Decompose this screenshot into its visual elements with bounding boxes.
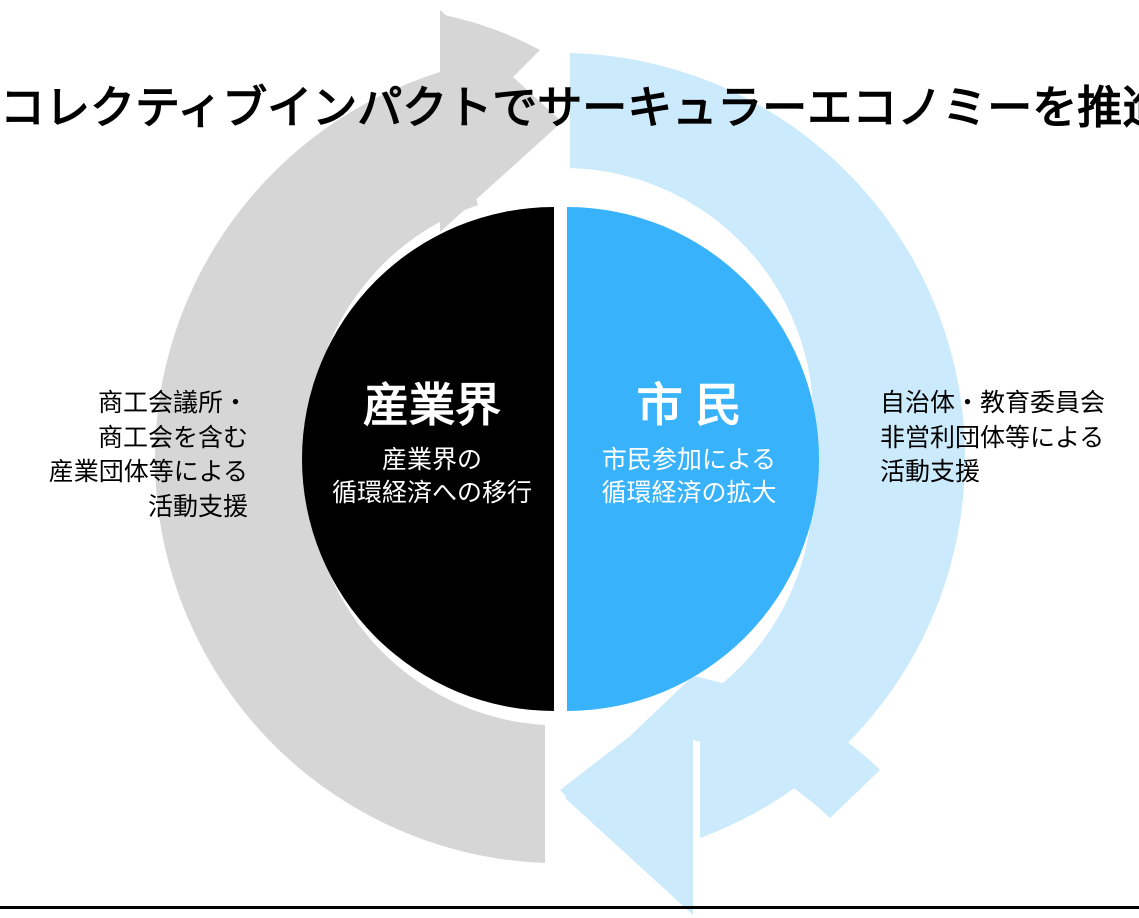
- caption-left-line-3: 産業団体等による: [0, 455, 248, 490]
- industry-heading: 産業界: [313, 378, 551, 432]
- slide-canvas: コレクティブインパクトでサーキュラーエコノミーを推進 商工会議所・ 商工会を含む…: [0, 0, 1139, 918]
- caption-left-line-1: 商工会議所・: [0, 386, 248, 421]
- page-title: コレクティブインパクトでサーキュラーエコノミーを推進: [0, 82, 1139, 134]
- caption-right-line-2: 非営利団体等による: [880, 421, 1139, 456]
- lightblue-arrow-head-fill: [565, 676, 693, 915]
- citizens-subtitle-line-1: 市民参加による: [570, 444, 808, 477]
- bottom-divider: [0, 906, 1139, 909]
- citizens-subtitle-line-2: 循環経済の拡大: [570, 477, 808, 510]
- caption-left-line-4: 活動支援: [0, 490, 248, 525]
- industry-subtitle: 産業界の 循環経済への移行: [313, 444, 551, 510]
- citizens-subtitle: 市民参加による 循環経済の拡大: [570, 444, 808, 510]
- citizens-heading: 市 民: [570, 378, 808, 432]
- caption-left-industry-support: 商工会議所・ 商工会を含む 産業団体等による 活動支援: [0, 386, 248, 524]
- inner-half-citizens-label: 市 民 市民参加による 循環経済の拡大: [570, 378, 808, 510]
- industry-subtitle-line-1: 産業界の: [313, 444, 551, 477]
- caption-right-line-3: 活動支援: [880, 455, 1139, 490]
- caption-right-line-1: 自治体・教育委員会: [880, 386, 1139, 421]
- caption-left-line-2: 商工会を含む: [0, 421, 248, 456]
- caption-right-public-support: 自治体・教育委員会 非営利団体等による 活動支援: [880, 386, 1139, 490]
- industry-subtitle-line-2: 循環経済への移行: [313, 477, 551, 510]
- inner-half-industry-label: 産業界 産業界の 循環経済への移行: [313, 378, 551, 510]
